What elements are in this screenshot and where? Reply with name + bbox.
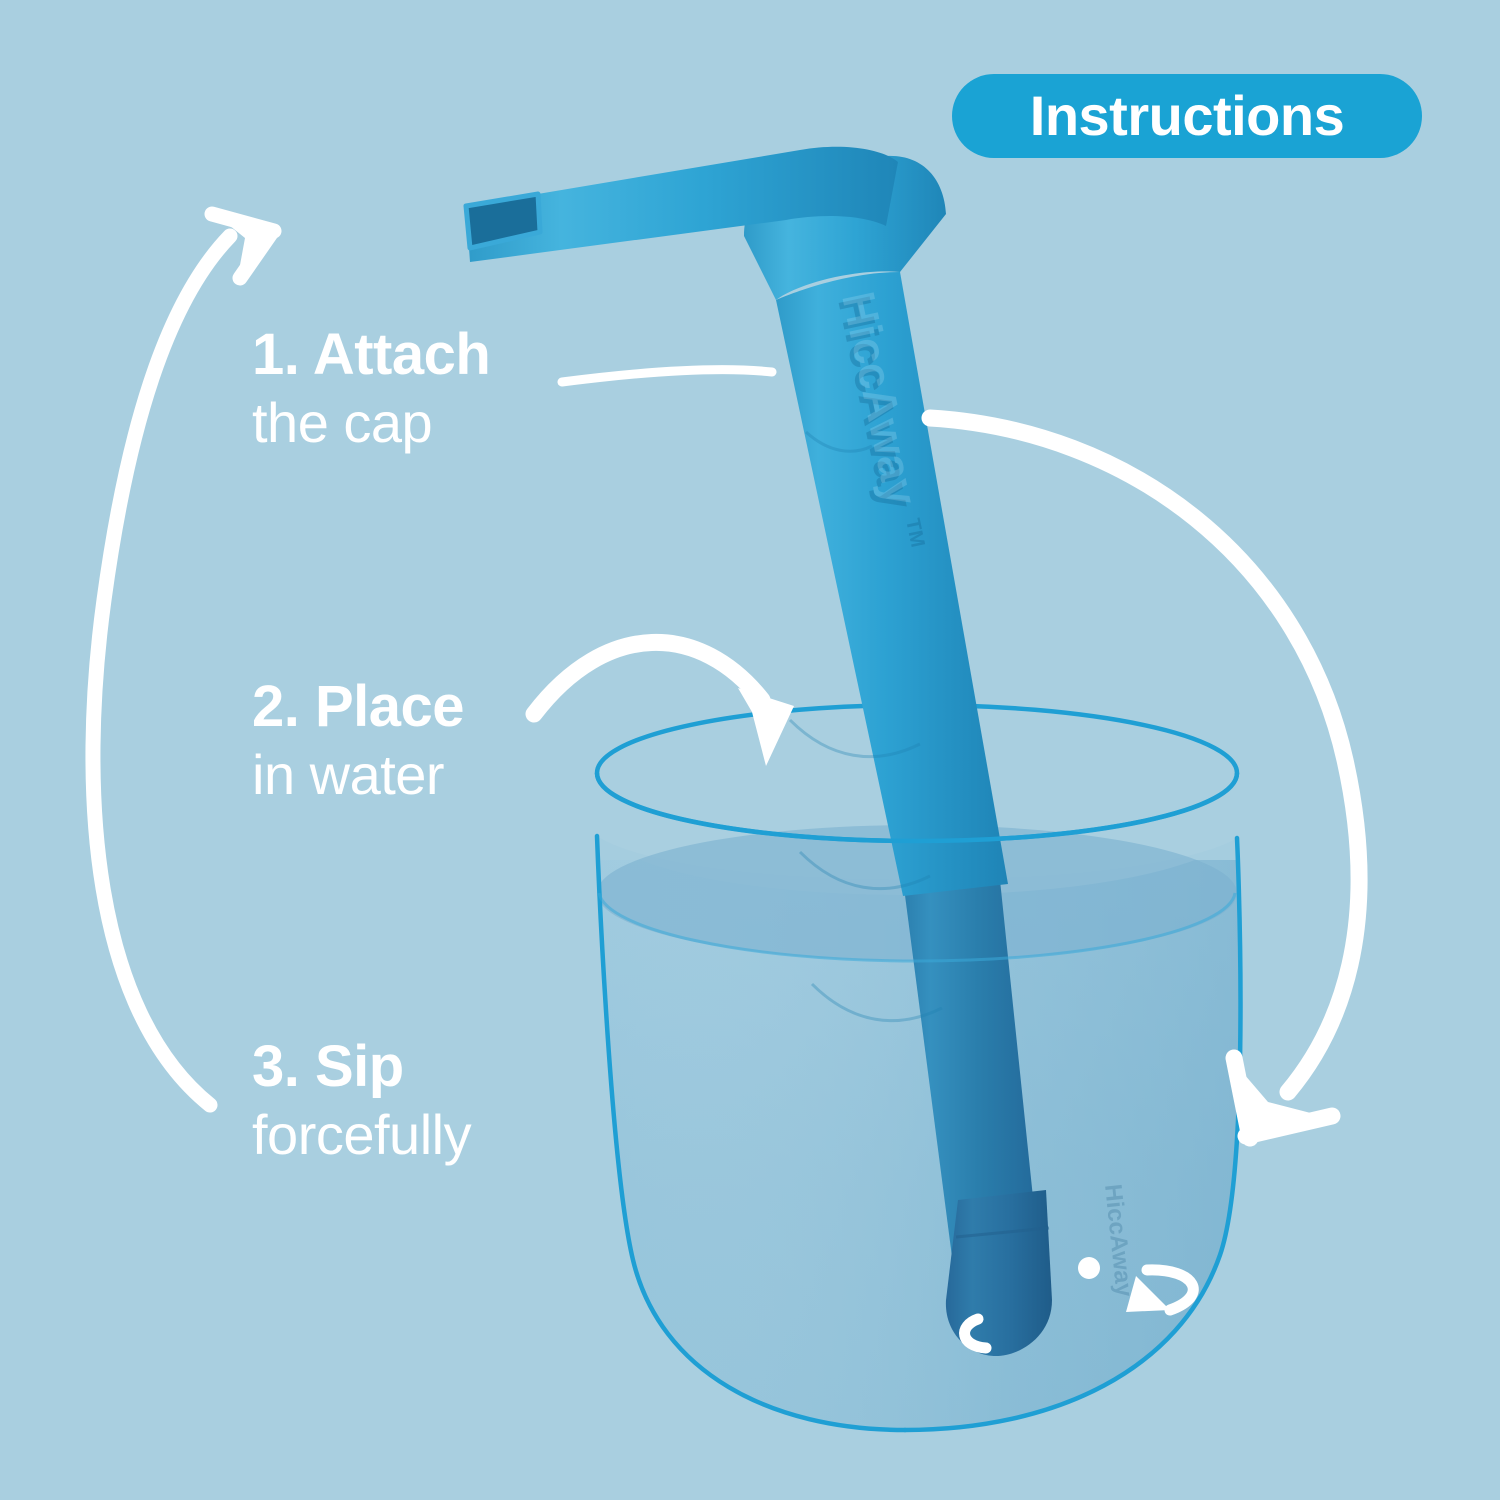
- step-2-arrow: [534, 642, 794, 766]
- step-1-title: 1. Attach: [252, 325, 490, 384]
- step-2-text: 2. Place in water: [252, 677, 464, 803]
- illustration-canvas: HiccAway TM HiccAway HiccAway: [0, 0, 1500, 1500]
- left-flow-arrow: [93, 213, 274, 1105]
- step-2-subtitle: in water: [252, 746, 464, 803]
- instructions-badge-label: Instructions: [1030, 88, 1344, 144]
- cap-adjust-dot: [1078, 1257, 1100, 1279]
- step-1-subtitle: the cap: [252, 394, 490, 451]
- step-2-arrowhead: [738, 688, 794, 766]
- step-2-title: 2. Place: [252, 677, 464, 736]
- step-1-text: 1. Attach the cap: [252, 325, 490, 451]
- step-1-leader-line: [562, 370, 772, 382]
- step-3-text: 3. Sip forcefully: [252, 1037, 471, 1163]
- instructions-badge: Instructions: [952, 74, 1422, 158]
- step-3-subtitle: forcefully: [252, 1106, 471, 1163]
- step-3-title: 3. Sip: [252, 1037, 471, 1096]
- instruction-graphic: HiccAway TM HiccAway HiccAway: [0, 0, 1500, 1500]
